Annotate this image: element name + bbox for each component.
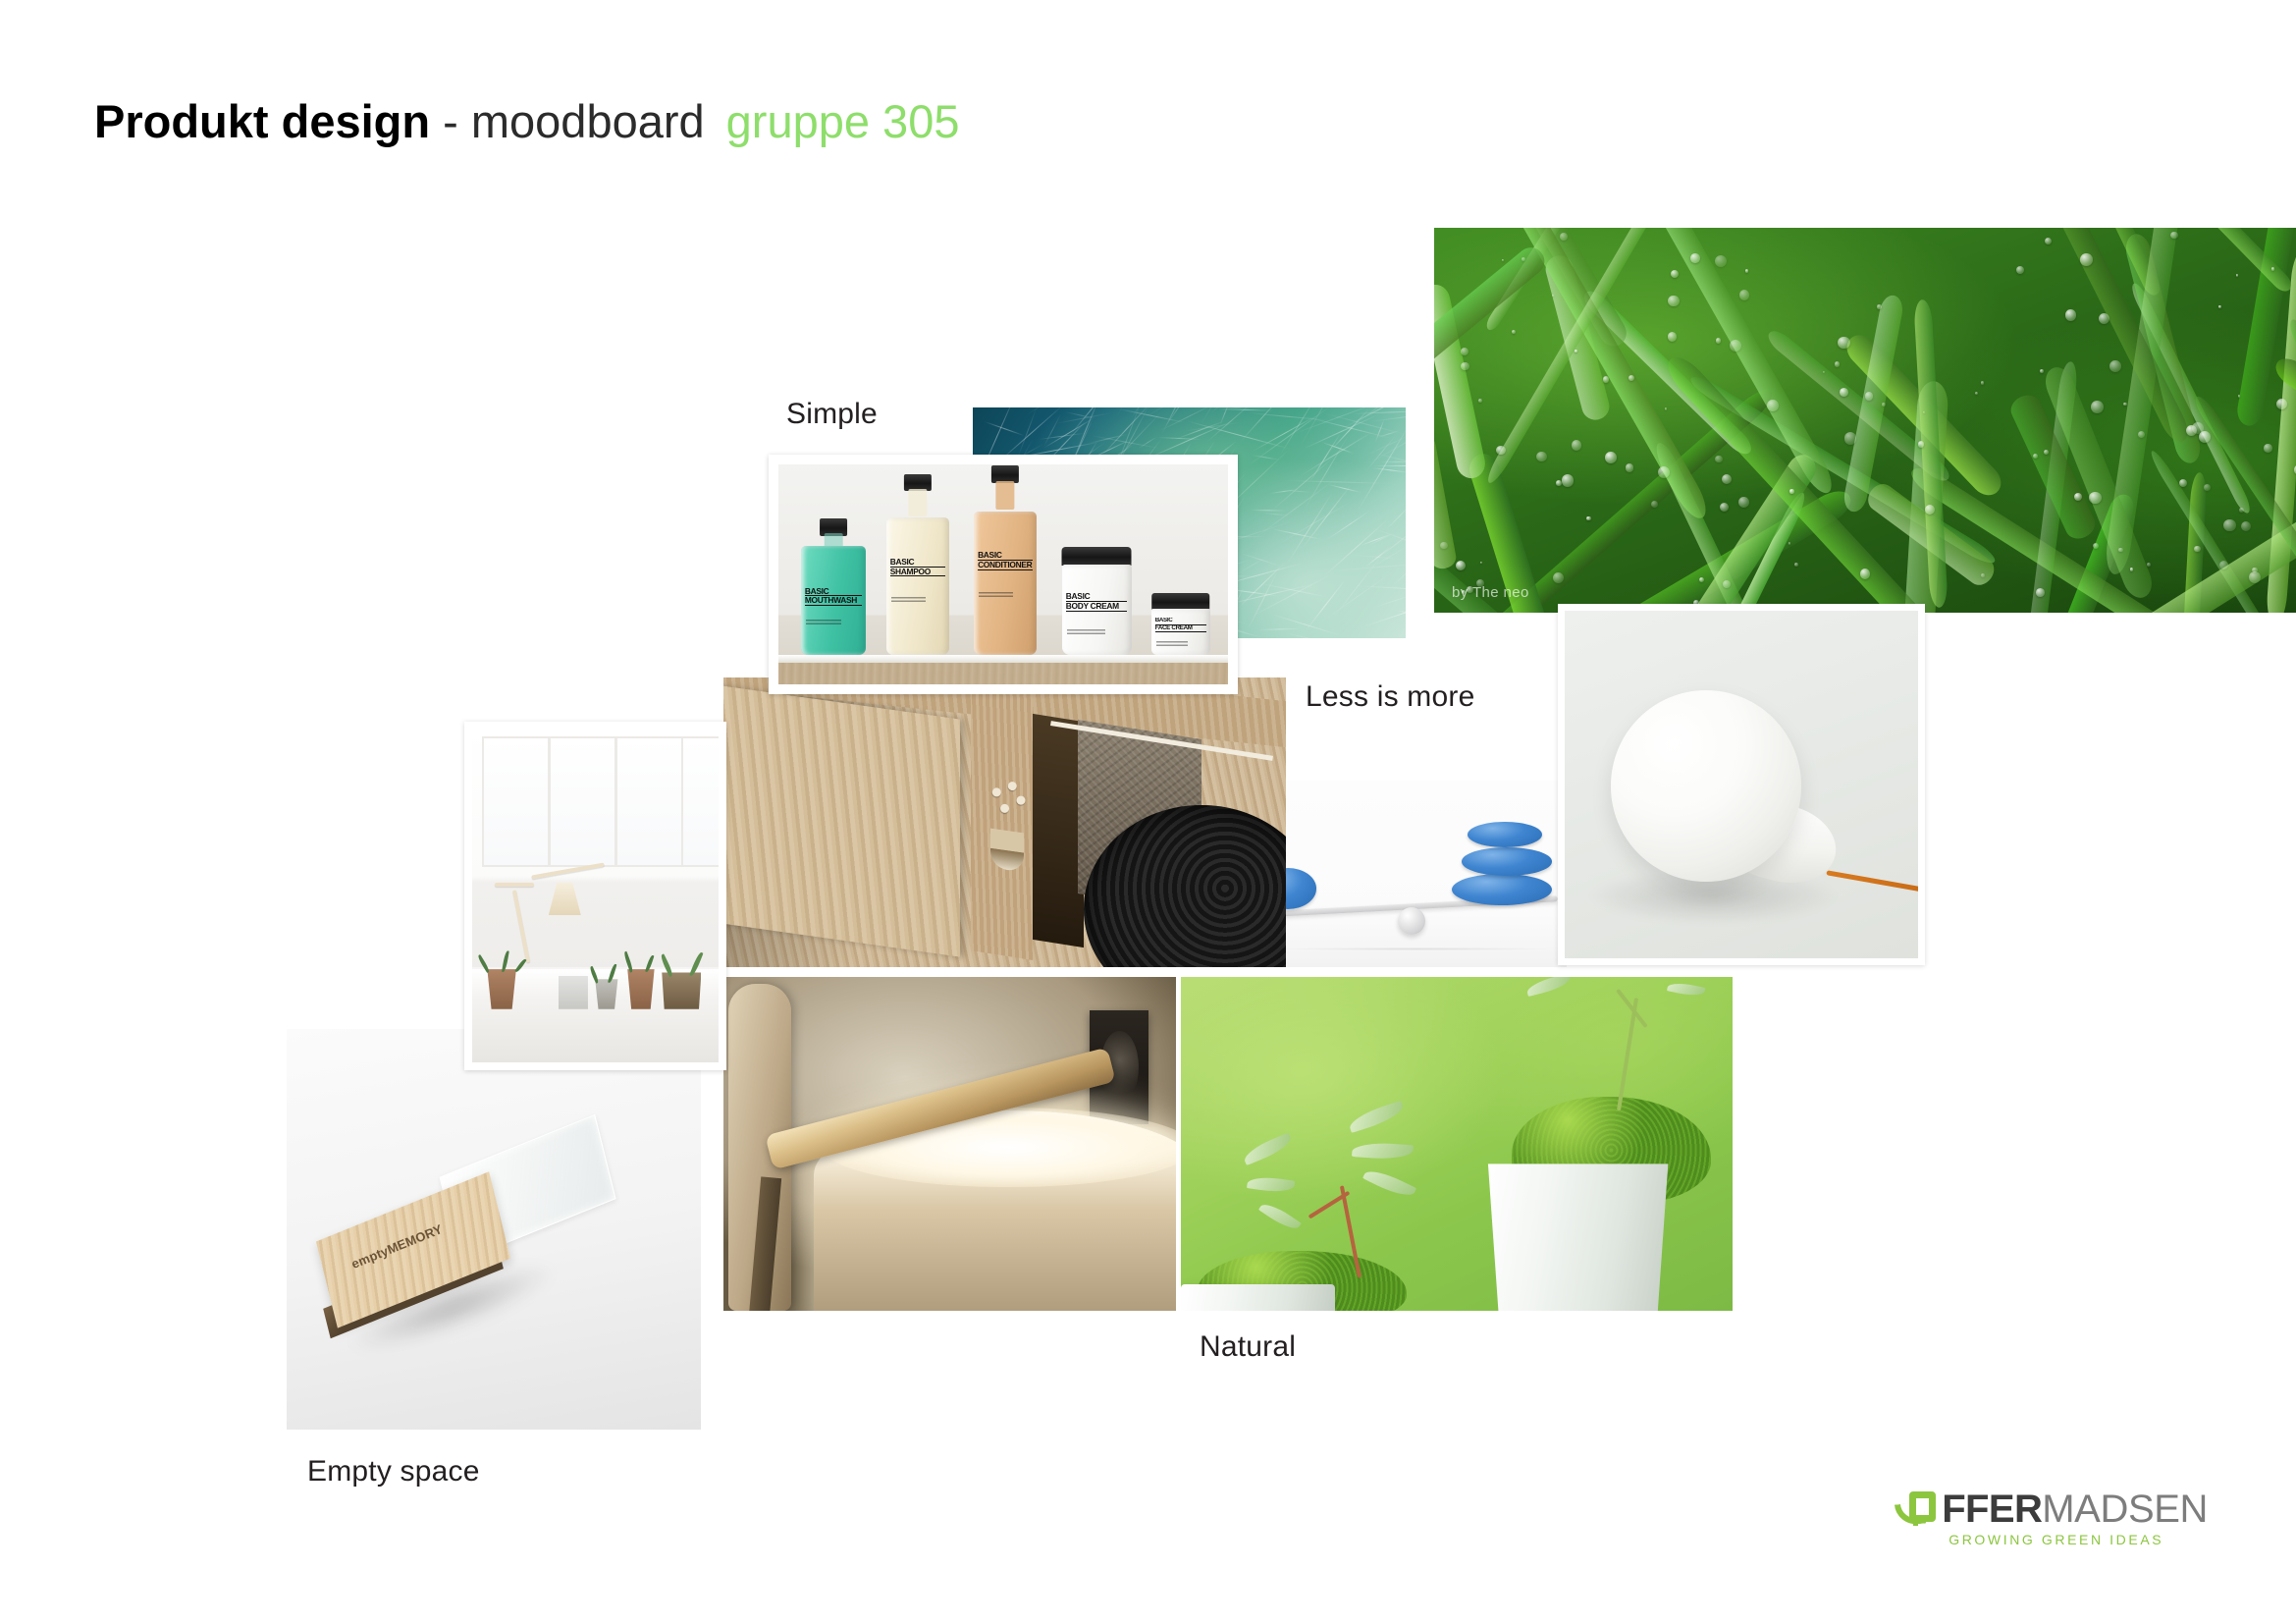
photo-moss-in-pots — [1181, 977, 1733, 1311]
product-label: BASIC MOUTHWASH — [805, 587, 862, 606]
photo-basic-product-range: BASIC MOUTHWASH BASIC SHAMPOO BASIC COND… — [769, 455, 1238, 694]
bulb-sphere — [1611, 690, 1801, 882]
label-brand: BASIC — [1066, 592, 1127, 602]
product-label: BASIC BODY CREAM — [1066, 592, 1127, 611]
seesaw-fulcrum — [1398, 907, 1425, 935]
cabinet-open-gap — [1033, 714, 1084, 947]
photo-chair-with-lampshade — [723, 977, 1176, 1311]
product-label: BASIC CONDITIONER — [978, 551, 1033, 569]
lamp-lower-arm — [512, 890, 530, 962]
seedling-leaf-right — [1525, 977, 1573, 997]
white-box — [559, 976, 588, 1009]
maple-leaflet — [1347, 1101, 1406, 1133]
photo-ceramic-bulb-lamp — [1558, 604, 1925, 965]
bottle-neck — [996, 481, 1015, 510]
bottle-body — [886, 517, 949, 655]
bottle-body — [974, 512, 1037, 655]
label-product: MOUTHWASH — [805, 596, 862, 606]
white-pot-right — [1484, 1164, 1672, 1311]
product-shelf-scene: BASIC MOUTHWASH BASIC SHAMPOO BASIC COND… — [778, 464, 1228, 684]
offermadsen-logo: FFERMADSEN GROWING GREEN IDEAS — [1896, 1489, 2208, 1547]
label-product: CONDITIONER — [978, 561, 1033, 570]
lamp-base-arm — [495, 883, 534, 887]
product-shampoo: BASIC SHAMPOO — [886, 474, 949, 655]
label-fineprint — [806, 620, 841, 626]
window-pane — [482, 736, 550, 867]
caption-empty-space: Empty space — [307, 1455, 480, 1489]
label-brand: BASIC — [805, 587, 862, 597]
shelf-surface — [778, 655, 1228, 663]
maple-leaflet — [1362, 1165, 1416, 1202]
title-group-label: gruppe 305 — [705, 95, 960, 147]
product-label: BASIC SHAMPOO — [890, 558, 945, 576]
label-fineprint — [891, 597, 926, 604]
shelf-wood-base — [778, 663, 1228, 684]
window-pane — [615, 736, 683, 867]
leaf-o-icon — [1896, 1489, 1941, 1529]
maple-leaflet — [1352, 1141, 1414, 1161]
lamp-shade — [549, 883, 581, 915]
label-brand: BASIC — [1155, 618, 1206, 624]
product-face-cream: BASIC FACE CREAM — [1151, 593, 1210, 655]
title-regular-part: moodboard — [471, 95, 705, 147]
logo-word-light: MADSEN — [2042, 1489, 2208, 1529]
stone-right-bottom — [1452, 874, 1551, 905]
photo-balanced-stones — [1265, 781, 1567, 967]
window-pane — [549, 736, 616, 867]
orange-power-cord — [1827, 870, 1918, 892]
product-conditioner: BASIC CONDITIONER — [974, 465, 1037, 655]
caption-less-is-more: Less is more — [1306, 680, 1474, 714]
metal-planter — [662, 972, 701, 1008]
bottle-neck — [908, 489, 927, 516]
title-bold-part: Produkt design — [94, 95, 430, 147]
white-pot-left — [1181, 1284, 1335, 1311]
product-mouthwash: BASIC MOUTHWASH — [801, 518, 866, 655]
label-product: SHAMPOO — [890, 568, 945, 577]
ground-shadow — [1283, 947, 1548, 950]
maple-leaflet — [1247, 1174, 1295, 1195]
drawer-front — [723, 682, 960, 956]
label-product: FACE CREAM — [1155, 625, 1206, 632]
caption-natural: Natural — [1200, 1330, 1296, 1364]
maple-leaflet — [1242, 1132, 1295, 1164]
stone-right-top — [1468, 822, 1543, 848]
label-fineprint — [1156, 641, 1188, 646]
seedling-leaf-right — [1667, 981, 1705, 1000]
label-brand: BASIC — [890, 558, 945, 568]
photo-window-with-plants — [464, 722, 726, 1070]
window-scene — [472, 730, 719, 1062]
jar-lid — [1062, 547, 1132, 566]
grass-blades-layer — [1434, 228, 2296, 613]
window-pane — [681, 736, 719, 867]
label-fineprint — [1067, 629, 1104, 636]
stone-right-middle — [1462, 847, 1552, 876]
logo-word-bold: FFER — [1942, 1489, 2042, 1529]
caption-simple: Simple — [786, 398, 878, 431]
product-body-cream: BASIC BODY CREAM — [1062, 547, 1132, 655]
photo-oak-cabinet — [723, 677, 1286, 967]
label-fineprint — [979, 592, 1013, 599]
photo-dew-grass: by The neo — [1434, 228, 2296, 613]
bulb-scene — [1565, 611, 1918, 958]
page-title: Produkt design - moodboardgruppe 305 — [94, 98, 959, 144]
title-dash: - — [430, 95, 471, 147]
product-label: BASIC FACE CREAM — [1155, 618, 1206, 632]
logo-tagline: GROWING GREEN IDEAS — [1949, 1532, 2208, 1547]
grass-watermark-text: by The neo — [1452, 584, 1529, 601]
label-brand: BASIC — [978, 551, 1033, 561]
maple-leaflet — [1258, 1200, 1302, 1234]
photo-empty-memory-usb: emptyMEMORY — [287, 1029, 701, 1430]
label-product: BODY CREAM — [1066, 602, 1127, 612]
jar-lid — [1151, 593, 1210, 609]
